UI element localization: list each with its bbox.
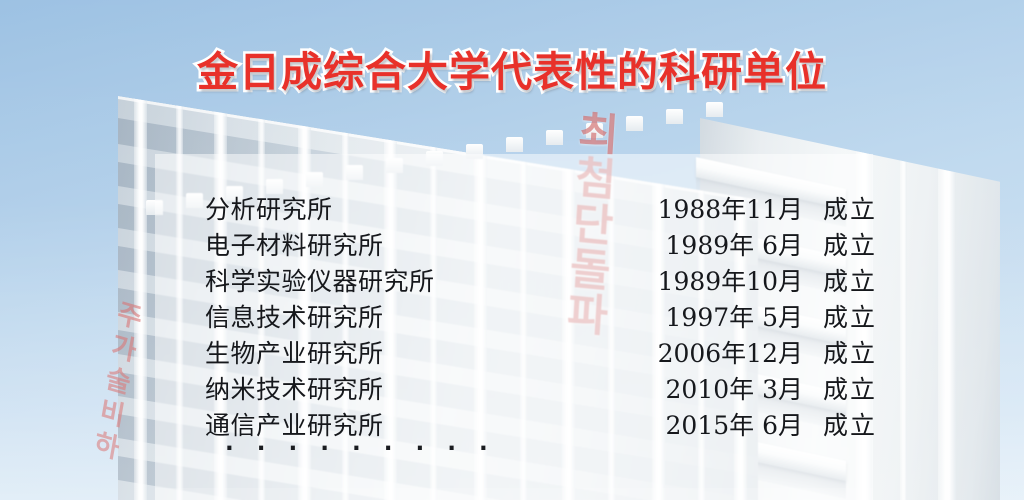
list-item: 科学实验仪器研究所 1989年10月 成立 (155, 262, 873, 298)
institute-name: 纳米技术研究所 (205, 370, 384, 406)
ellipsis-dot: · (289, 436, 304, 462)
institute-list: 分析研究所 1988年11月 成立 电子材料研究所 1989年 6月 成立 科学… (155, 154, 873, 500)
institute-date: 1988年11月 (607, 190, 803, 226)
slide-title: 金日成综合大学代表性的科研单位 (0, 50, 1024, 96)
calligraphy-char: 최 (577, 110, 620, 159)
institute-name: 生物产业研究所 (205, 334, 384, 370)
list-item: 电子材料研究所 1989年 6月 成立 (155, 226, 873, 262)
institute-date: 1989年10月 (607, 262, 803, 298)
ellipsis-dot: · (447, 436, 462, 462)
ellipsis-dot: · (384, 436, 399, 462)
list-item: 信息技术研究所 1997年 5月 成立 (155, 298, 873, 334)
institute-date: 1997年 5月 (607, 298, 803, 334)
list-ellipsis: · · · · · · · · · (225, 436, 494, 462)
ellipsis-dot: · (352, 436, 367, 462)
institute-date: 2006年12月 (607, 334, 803, 370)
ellipsis-dot: · (225, 436, 240, 462)
list-item: 生物产业研究所 2006年12月 成立 (155, 334, 873, 370)
institute-status: 成立 (823, 226, 877, 262)
institute-name: 科学实验仪器研究所 (205, 262, 435, 298)
institute-name: 分析研究所 (205, 190, 333, 226)
institute-status: 成立 (823, 406, 877, 442)
ellipsis-dot: · (416, 436, 431, 462)
list-item: 纳米技术研究所 2010年 3月 成立 (155, 370, 873, 406)
calligraphy-char: 하 (92, 428, 122, 467)
institute-status: 成立 (823, 298, 877, 334)
institute-status: 成立 (823, 334, 877, 370)
institute-status: 成立 (823, 190, 877, 226)
ellipsis-dot: · (479, 436, 494, 462)
list-item: 分析研究所 1988年11月 成立 (155, 190, 873, 226)
institute-status: 成立 (823, 262, 877, 298)
institute-status: 成立 (823, 370, 877, 406)
institute-date: 1989年 6月 (607, 226, 803, 262)
institute-date: 2015年 6月 (607, 406, 803, 442)
ellipsis-dot: · (320, 436, 335, 462)
slide-root: 최 첨 단 돌 파 주 가 술 비 하 金日成综合大学代表性的科研单位 分析研究… (0, 0, 1024, 500)
ellipsis-dot: · (257, 436, 272, 462)
institute-date: 2010年 3月 (607, 370, 803, 406)
institute-name: 电子材料研究所 (205, 226, 384, 262)
institute-name: 信息技术研究所 (205, 298, 384, 334)
